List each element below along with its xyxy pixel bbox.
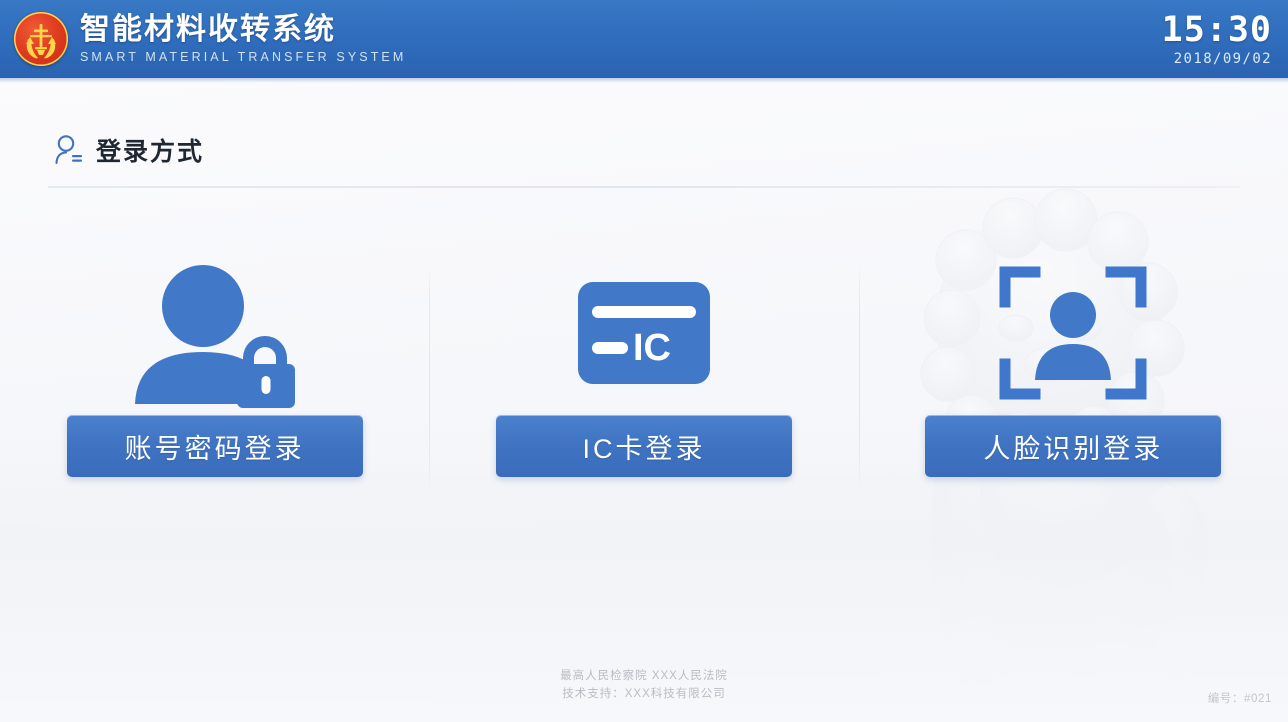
section-divider — [48, 186, 1240, 188]
user-profile-icon — [52, 133, 86, 167]
login-option-face[interactable]: 人脸识别登录 — [859, 250, 1288, 550]
clock-time: 15:30 — [1162, 13, 1272, 48]
ic-card-label: IC — [633, 327, 671, 369]
device-number: 编号：#021 — [1208, 690, 1272, 706]
footer-line-1: 最高人民检察院 XXX人民法院 — [0, 668, 1288, 686]
password-login-button[interactable]: 账号密码登录 — [67, 415, 363, 477]
section-title: 登录方式 — [96, 132, 204, 168]
ic-card-login-button[interactable]: IC卡登录 — [496, 415, 792, 477]
app-title-en: SMART MATERIAL TRANSFER SYSTEM — [80, 51, 406, 64]
section-header: 登录方式 — [52, 132, 204, 168]
footer: 最高人民检察院 XXX人民法院 技术支持：XXX科技有限公司 — [0, 668, 1288, 704]
face-recognition-icon — [997, 250, 1149, 415]
user-lock-icon — [125, 250, 305, 415]
header-clock: 15:30 2018/09/02 — [1162, 13, 1272, 66]
app-title-cn: 智能材料收转系统 — [80, 15, 406, 45]
footer-line-2: 技术支持：XXX科技有限公司 — [0, 686, 1288, 704]
app-header: 智能材料收转系统 SMART MATERIAL TRANSFER SYSTEM … — [0, 0, 1288, 78]
clock-date: 2018/09/02 — [1162, 52, 1272, 66]
face-login-button[interactable]: 人脸识别登录 — [925, 415, 1221, 477]
login-option-password[interactable]: 账号密码登录 — [0, 250, 429, 550]
app-title-block: 智能材料收转系统 SMART MATERIAL TRANSFER SYSTEM — [80, 15, 406, 64]
login-option-ic-card[interactable]: IC IC卡登录 — [429, 250, 858, 550]
ic-card-icon: IC — [576, 250, 712, 415]
china-procuratorate-emblem-icon — [14, 12, 68, 66]
login-options-row: 账号密码登录 IC IC卡登录 — [0, 250, 1288, 550]
